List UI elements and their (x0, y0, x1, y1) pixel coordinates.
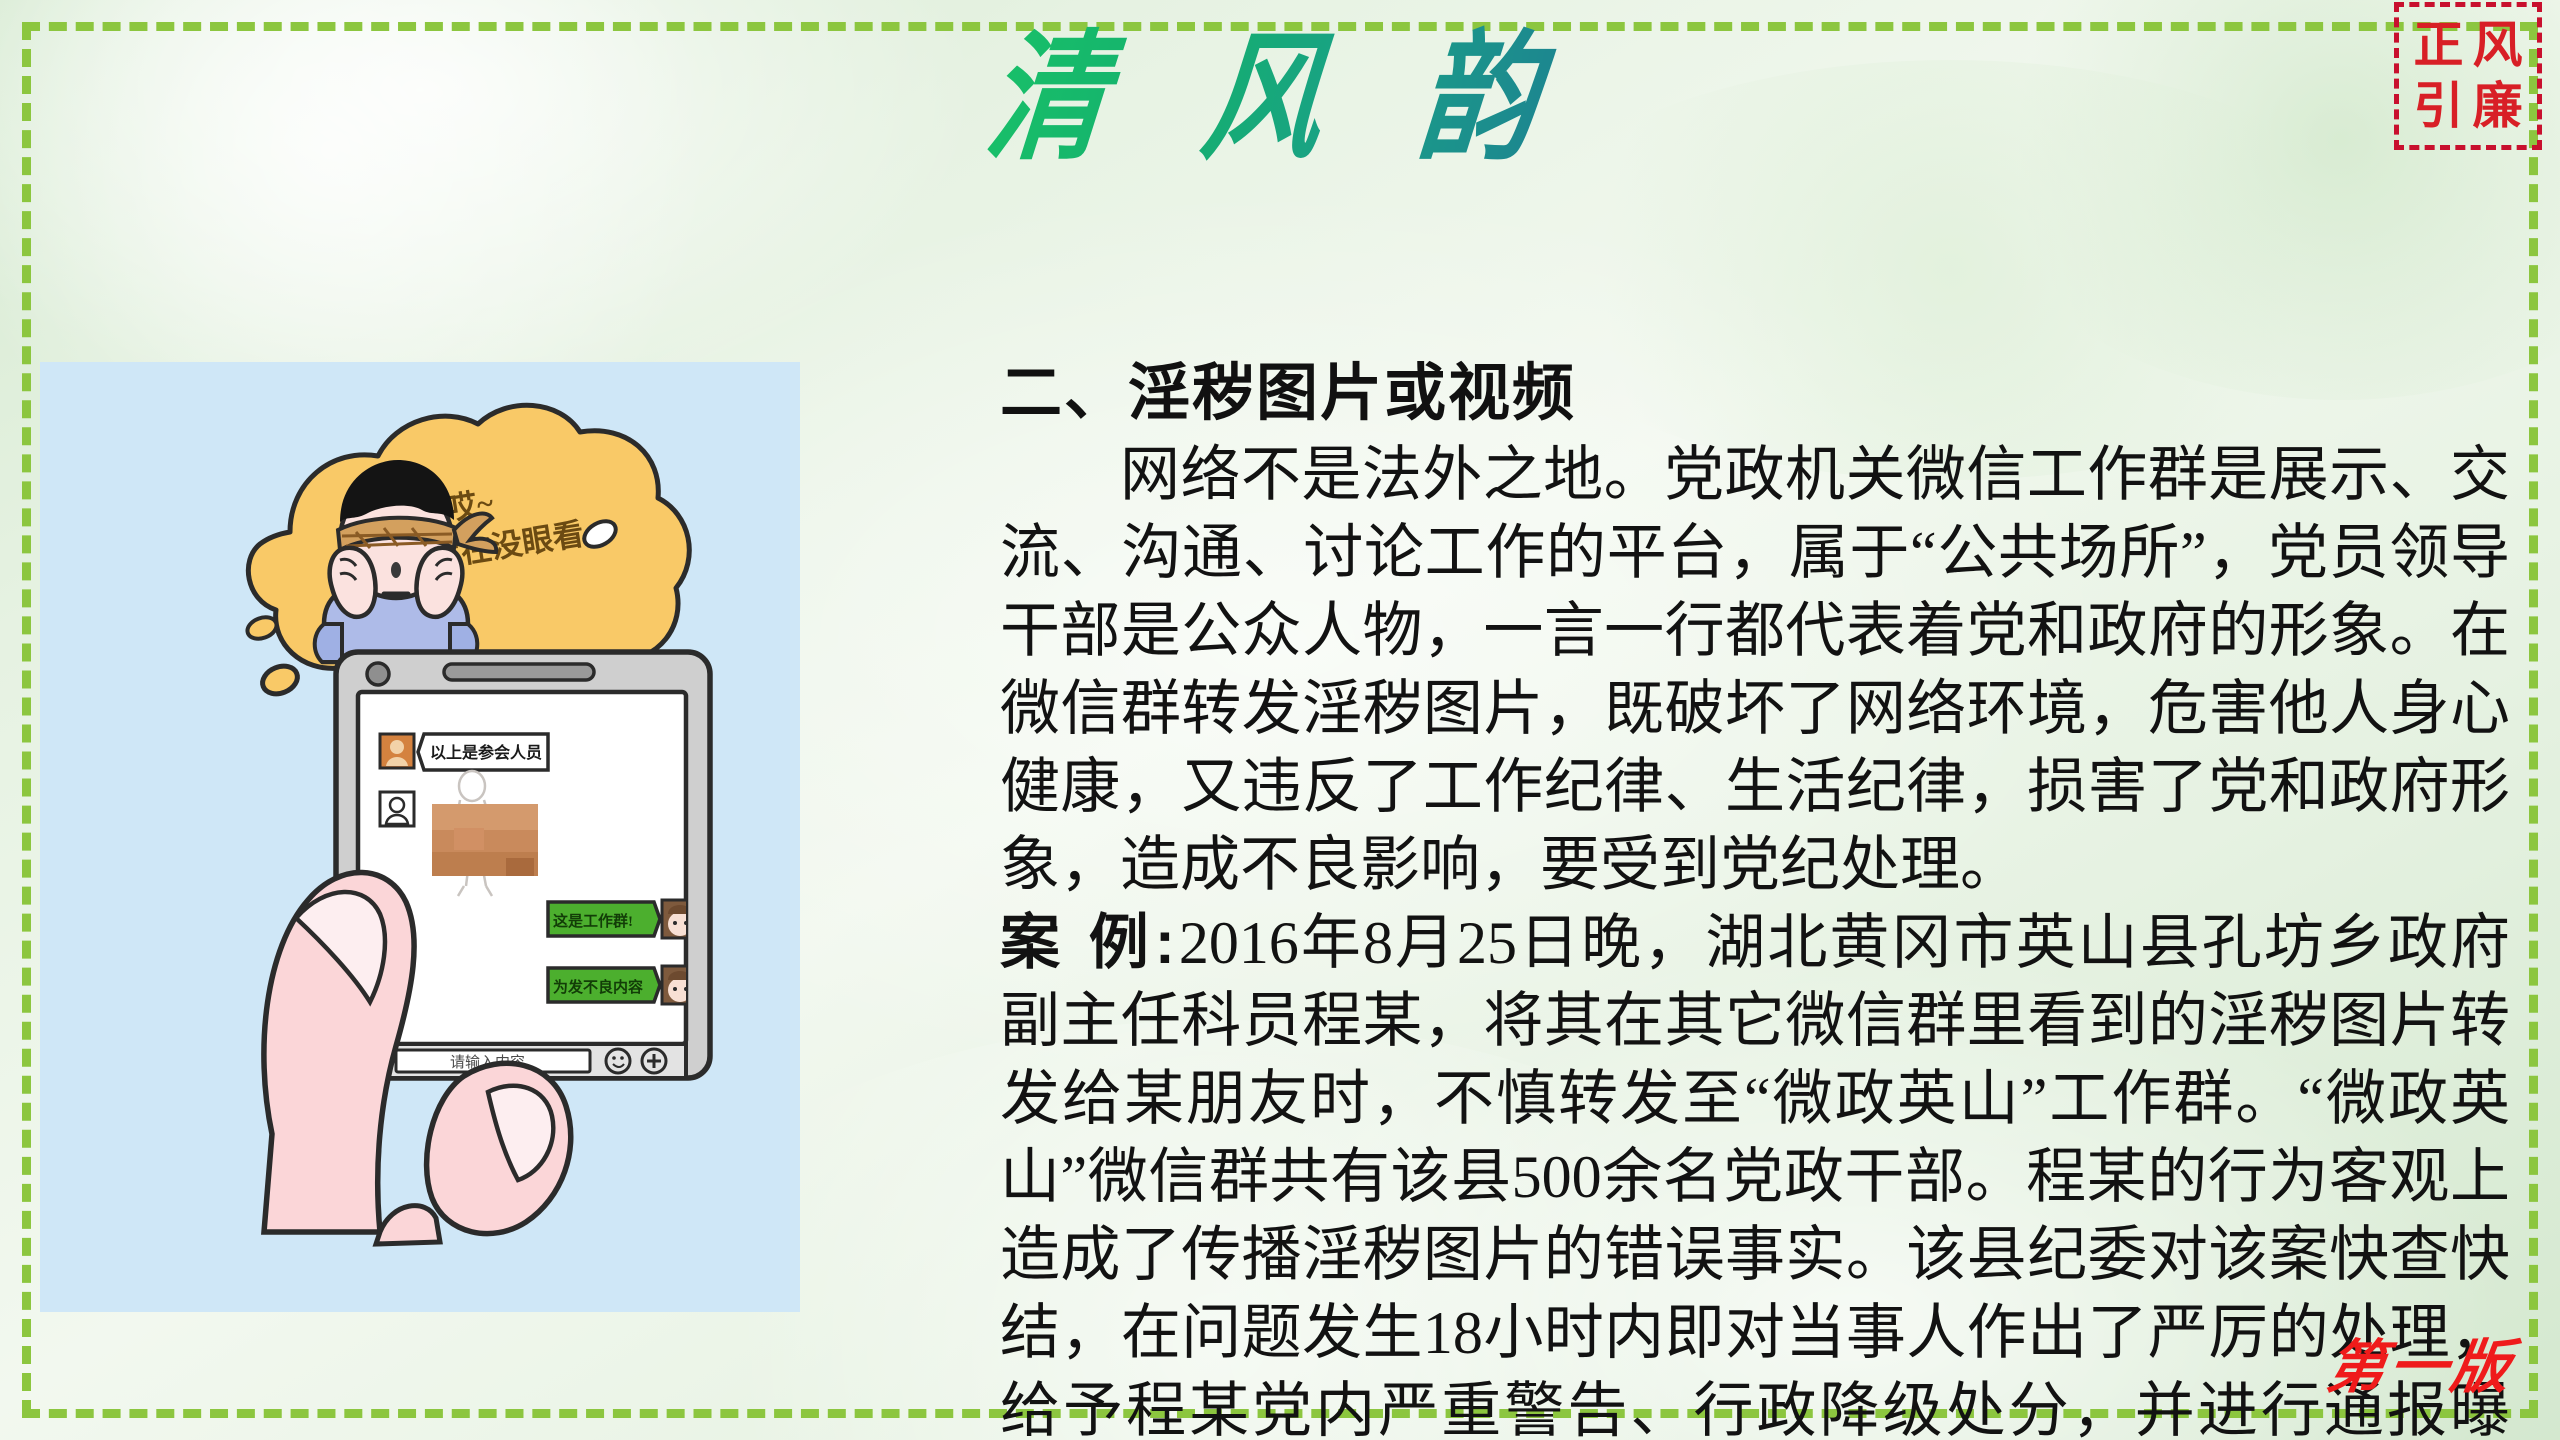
article: 二、淫秽图片或视频 网络不是法外之地。党政机关微信工作群是展示、交流、沟通、讨论… (1000, 358, 2510, 1440)
stamp-zhengfeng-yinlian: 正风 引廉 (2394, 2, 2542, 150)
stamp-line-1: 正风 (2405, 15, 2532, 76)
phone-speaker (444, 664, 594, 680)
article-body: 网络不是法外之地。党政机关微信工作群是展示、交流、沟通、讨论工作的平台，属于“公… (1000, 436, 2510, 1440)
article-case: 案 例:2016年8月25日晚，湖北黄冈市英山县孔坊乡政府副主任科员程某，将其在… (1000, 904, 2510, 1440)
article-heading: 二、淫秽图片或视频 (1000, 358, 2510, 430)
emoji-icon (606, 1049, 630, 1073)
case-text: 2016年8月25日晚，湖北黄冈市英山县孔坊乡政府副主任科员程某，将其在其它微信… (1000, 910, 2510, 1440)
chat-message-3-text: 这是工作群! (553, 912, 633, 930)
case-label: 案 例: (1000, 909, 1179, 976)
page-title: 清 风 韵 (960, 15, 1601, 185)
newspaper-page: 清 风 韵 正风 引廉 哎~ 实在没眼看 (0, 0, 2560, 1440)
chat-message-4-text: 为发不良内容 (553, 978, 643, 996)
stamp-line-2: 引廉 (2405, 76, 2532, 137)
chat-message-1-text: 以上是参会人员 (430, 743, 542, 762)
cartoon-illustration: 哎~ 实在没眼看 (40, 362, 800, 1312)
illustration-panel: 哎~ 实在没眼看 (40, 362, 800, 1312)
page-number: 第一版 (2322, 1320, 2520, 1404)
masthead: 清 风 韵 (0, 28, 2560, 172)
phone-camera (367, 663, 389, 685)
article-paragraph-1: 网络不是法外之地。党政机关微信工作群是展示、交流、沟通、讨论工作的平台，属于“公… (1000, 436, 2510, 904)
